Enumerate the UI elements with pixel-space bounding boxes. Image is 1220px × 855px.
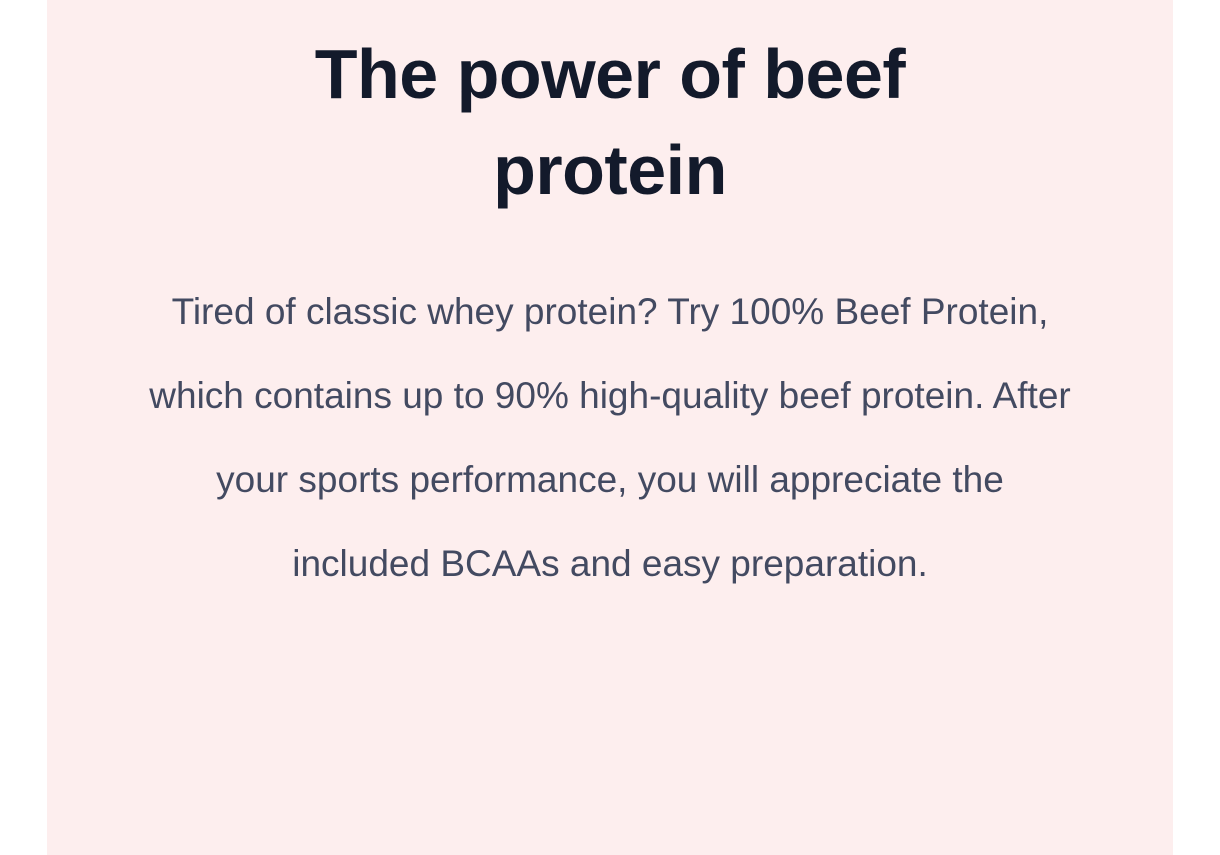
page-root: The power of beef protein Tired of class… [0, 0, 1220, 855]
panel-content: The power of beef protein Tired of class… [145, 0, 1075, 606]
section-description: Tired of classic whey protein? Try 100% … [145, 218, 1075, 606]
page-title: The power of beef protein [250, 0, 970, 218]
beef-protein-info-panel: The power of beef protein Tired of class… [47, 0, 1173, 855]
